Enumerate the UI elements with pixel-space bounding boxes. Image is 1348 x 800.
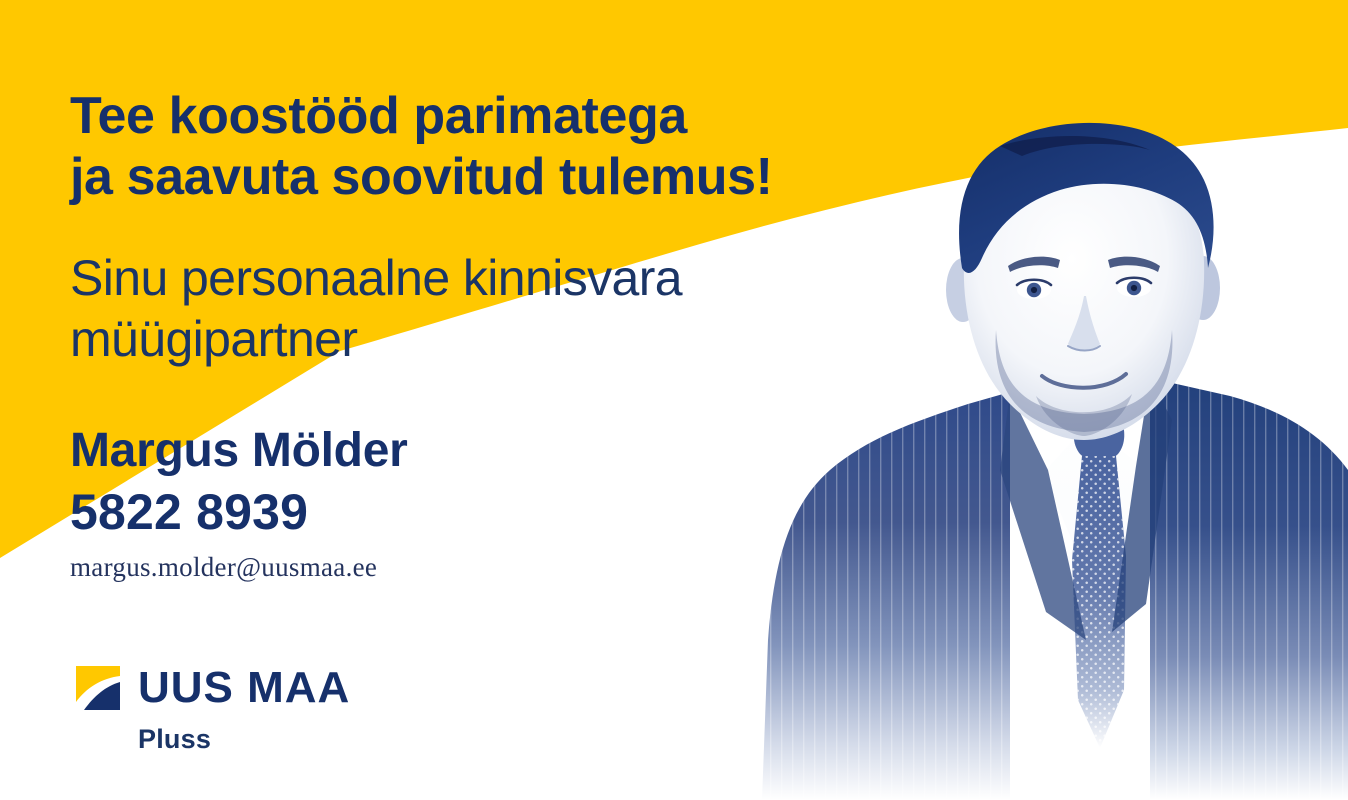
agent-phone[interactable]: 5822 8939	[70, 483, 308, 541]
logo-wordmark: UUS MAA	[138, 664, 350, 712]
logo-sub-brand: Pluss	[138, 724, 211, 755]
agent-name: Margus Mölder	[70, 423, 407, 478]
content-layer: Tee koostööd parimatega ja saavuta soovi…	[0, 0, 1348, 800]
headline: Tee koostööd parimatega ja saavuta soovi…	[70, 86, 930, 208]
subheadline: Sinu personaalne kinnisvara müügipartner	[70, 248, 900, 370]
uus-maa-logo-mark-icon	[76, 666, 120, 710]
advertisement-banner: Tee koostööd parimatega ja saavuta soovi…	[0, 0, 1348, 800]
uus-maa-logo[interactable]: UUS MAA Pluss	[76, 664, 456, 764]
agent-email[interactable]: margus.molder@uusmaa.ee	[70, 552, 377, 583]
